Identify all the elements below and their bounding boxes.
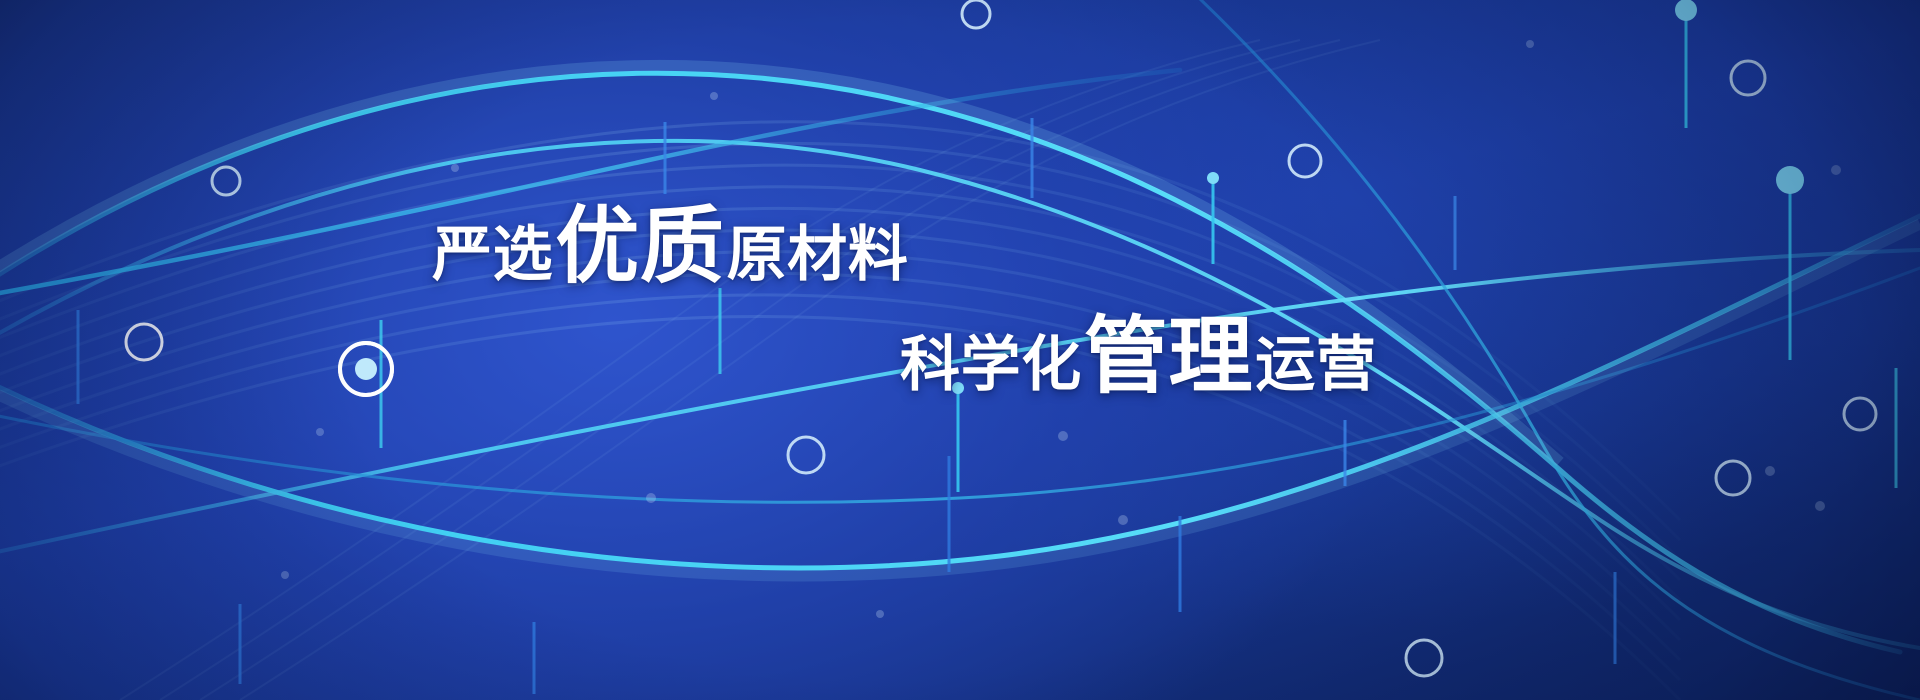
accent-dot	[710, 92, 718, 100]
target-ring-icon	[340, 343, 392, 395]
accent-dot	[646, 493, 656, 503]
accent-dot	[876, 610, 884, 618]
ring-icon	[1289, 145, 1321, 177]
accent-dot	[1526, 40, 1534, 48]
headline-line2-seg2-emphasis: 管理	[1084, 309, 1253, 403]
stripe-fan-layer	[0, 0, 1920, 700]
rings-layer	[0, 0, 1920, 700]
ring-icon	[962, 0, 990, 28]
tick-marks-layer	[0, 0, 1920, 700]
ribbon-texture-layer	[0, 0, 1920, 700]
accent-dot	[281, 571, 289, 579]
headline-line2-seg3: 运营	[1255, 331, 1376, 398]
grid-layer	[0, 0, 1920, 700]
accent-dot	[316, 428, 324, 436]
ring-icon	[126, 324, 162, 360]
promo-banner: 严选优质原材料 科学化管理运营	[0, 0, 1920, 700]
accent-dot	[1831, 165, 1841, 175]
dots-layer	[0, 0, 1920, 700]
pin-markers-layer	[0, 0, 1920, 700]
accent-dot	[1815, 501, 1825, 511]
ring-icon	[212, 167, 240, 195]
headline-line-1: 严选优质原材料	[432, 208, 908, 293]
ring-icon	[340, 343, 392, 395]
ring-icon	[1844, 398, 1876, 430]
headline-line-2: 科学化管理运营	[900, 318, 1376, 403]
wave-curves-layer	[0, 0, 1920, 700]
pin-head-icon	[952, 382, 964, 394]
ring-icon	[1716, 461, 1750, 495]
headline-block: 严选优质原材料 科学化管理运营	[0, 0, 1920, 700]
accent-dot	[1118, 515, 1128, 525]
vignette-overlay	[0, 0, 1920, 700]
headline-line1-seg2-emphasis: 优质	[555, 199, 724, 293]
accent-dot	[1058, 431, 1068, 441]
headline-line1-seg1: 严选	[432, 221, 553, 288]
ring-icon	[1731, 61, 1765, 95]
ring-icon	[788, 437, 824, 473]
ring-icon	[1406, 640, 1442, 676]
pin-head-icon	[1675, 0, 1697, 21]
accent-dot	[451, 164, 459, 172]
accent-dot	[1765, 466, 1775, 476]
pin-head-icon	[1207, 172, 1219, 184]
headline-line1-seg3: 原材料	[727, 221, 909, 288]
headline-line2-seg1: 科学化	[900, 331, 1082, 398]
pin-head-icon	[1776, 166, 1804, 194]
